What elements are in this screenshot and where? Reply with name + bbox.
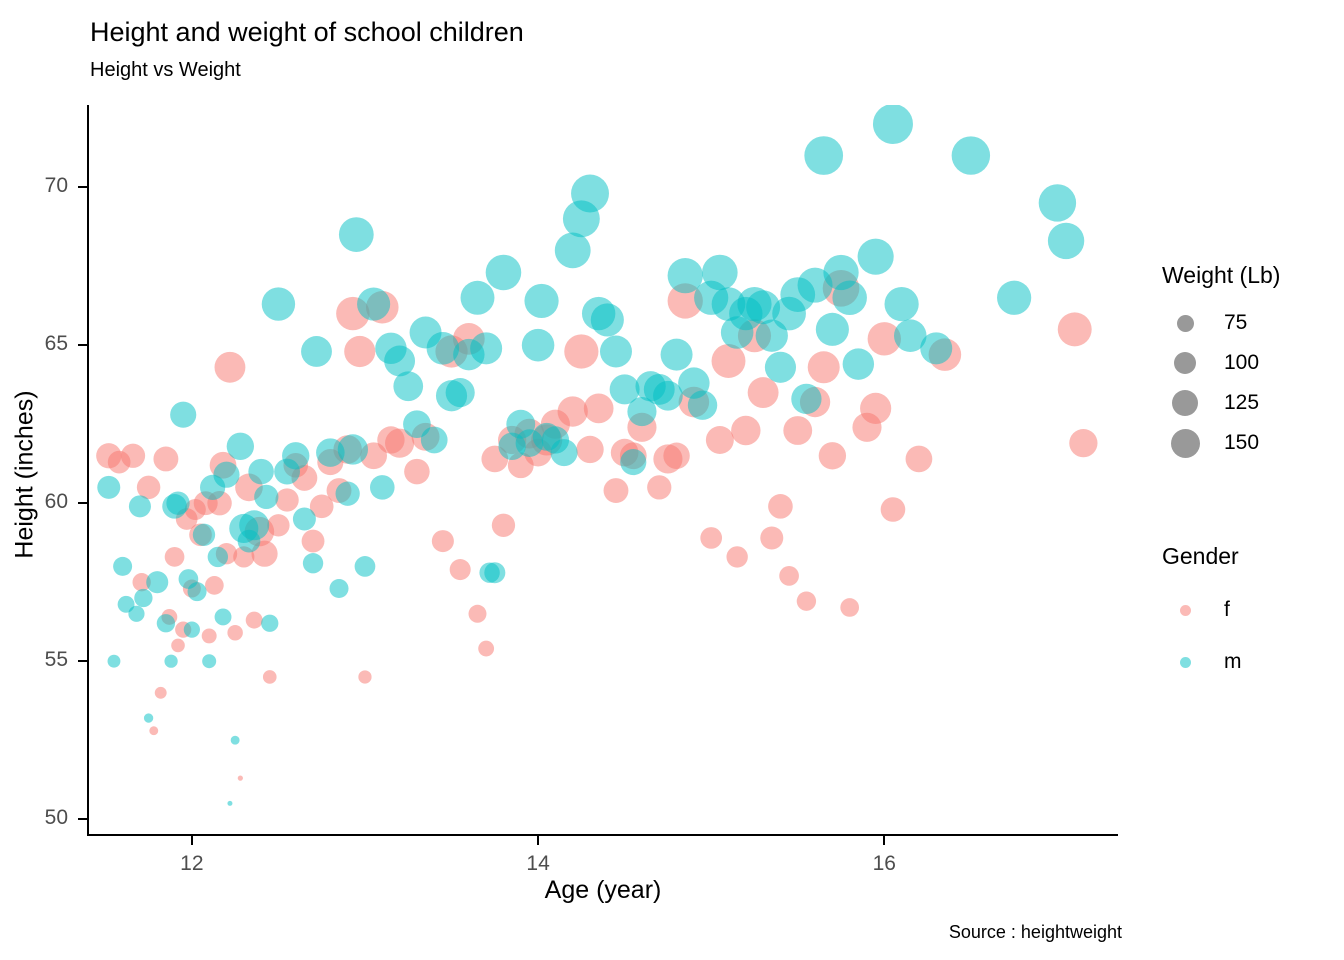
scatter-point [952,136,990,174]
chart-subtitle: Height vs Weight [90,58,241,82]
scatter-point [166,492,189,515]
y-tick-label: 60 [45,490,68,514]
gender-legend: Gender fm [1162,543,1242,688]
y-tick-label: 55 [45,648,68,672]
size-legend-items: 75100125150 [1162,303,1280,463]
scatter-point [246,612,263,629]
scatter-point [121,444,145,468]
scatter-point [193,524,215,546]
y-tick-label: 65 [45,332,68,356]
scatter-point [153,446,178,471]
scatter-point [239,510,269,540]
circle-icon [1162,390,1208,416]
scatter-point [336,482,360,506]
circle-icon [1162,605,1208,616]
scatter-point [791,384,821,414]
scatter-point [576,436,603,463]
scatter-point [421,427,448,454]
scatter-point [254,485,278,509]
scatter-point [165,547,185,567]
scatter-point [469,605,487,623]
scatter-point [263,670,277,684]
scatter-point [885,287,919,321]
x-tick-mark [883,836,885,845]
chart-caption: Source : heightweight [949,921,1122,943]
scatter-point [712,344,746,378]
scatter-point [706,426,734,454]
scatter-point [164,655,177,668]
scatter-point [129,495,151,517]
y-axis-title: Height (inches) [11,110,40,840]
x-tick-label: 14 [498,852,578,876]
scatter-point [551,439,578,466]
size-legend-row: 125 [1162,383,1280,423]
scatter-point [858,239,894,275]
scatter-point [238,776,243,781]
scatter-point [840,598,859,617]
scatter-point [760,526,783,549]
gender-legend-items: fm [1162,584,1242,688]
gender-legend-title: Gender [1162,543,1242,570]
chart-root: Height and weight of school children Hei… [0,0,1344,960]
size-legend-key [1177,315,1194,332]
scatter-point [267,514,289,536]
scatter-point [816,313,849,346]
gender-legend-label: m [1224,650,1242,674]
scatter-point [358,670,371,683]
scatter-point [726,546,747,567]
scatter-point [208,547,228,567]
scatter-point [262,287,295,320]
scatter-point [344,336,375,367]
x-tick-label: 16 [844,852,924,876]
plot-panel [88,105,1118,835]
scatter-point [522,329,555,362]
scatter-point [188,582,207,601]
size-legend-label: 125 [1224,391,1259,415]
page-title: Height and weight of school children [90,16,524,48]
scatter-point [213,462,239,488]
scatter-point [149,726,158,735]
scatter-point [765,352,796,383]
scatter-point [1058,312,1092,346]
size-legend: Weight (Lb) 75100125150 [1162,262,1280,463]
size-legend-key [1172,390,1198,416]
scatter-point [339,217,374,252]
gender-legend-row[interactable]: f [1162,584,1242,636]
scatter-point [215,608,232,625]
size-legend-row: 150 [1162,423,1280,463]
scatter-point [571,175,609,213]
scatter-point [393,371,423,401]
scatter-point [113,557,132,576]
scatter-point [843,348,874,379]
scatter-point [205,576,224,595]
scatter-point [779,566,799,586]
x-tick-label: 12 [152,852,232,876]
scatter-point [492,514,515,537]
scatter-point [227,433,254,460]
scatter-point [338,434,368,464]
scatter-point [302,530,325,553]
scatter-point [128,606,144,622]
scatter-point [450,559,471,580]
scatter-point [555,232,591,268]
scatter-point [248,459,274,485]
gender-legend-key [1180,657,1191,668]
scatter-point [303,553,323,573]
scatter-point [1039,184,1076,221]
circle-icon [1162,429,1208,458]
scatter-point [688,391,717,420]
size-legend-label: 150 [1224,431,1259,455]
scatter-point [231,736,240,745]
x-tick-mark [191,836,193,845]
x-axis-title: Age (year) [0,876,1206,905]
scatter-point [146,571,168,593]
scatter-point [330,579,349,598]
scatter-point [524,284,558,318]
size-legend-label: 75 [1224,311,1247,335]
scatter-point [108,655,121,668]
scatter-point [604,478,629,503]
scatter-point [661,339,693,371]
scatter-point [564,334,598,368]
gender-legend-row[interactable]: m [1162,636,1242,688]
scatter-point [804,136,843,175]
scatter-point [432,530,454,552]
scatter-point [647,475,671,499]
scatter-point [357,288,390,321]
scatter-point [134,589,152,607]
scatter-point [301,336,332,367]
scatter-point [702,255,738,291]
scatter-point [584,394,614,424]
scatter-point [202,628,217,643]
size-legend-title: Weight (Lb) [1162,262,1280,289]
circle-icon [1162,352,1208,374]
scatter-point [873,105,913,144]
scatter-point [783,416,812,445]
scatter-point [797,591,816,610]
scatter-point [1048,223,1084,259]
scatter-point [920,332,952,364]
size-legend-key [1174,352,1196,374]
y-tick-label: 70 [45,174,68,198]
scatter-point [997,281,1031,315]
scatter-point [171,639,185,653]
gender-legend-key [1180,605,1191,616]
scatter-point [227,625,242,640]
scatter-point [832,281,867,316]
scatter-point [808,351,840,383]
scatter-point [600,335,632,367]
scatter-point [155,687,167,699]
size-legend-label: 100 [1224,351,1259,375]
scatter-point [227,801,232,806]
scatter-point [819,442,846,469]
scatter-point [486,255,522,291]
y-tick-mark [78,502,87,504]
circle-icon [1162,657,1208,668]
size-legend-row: 100 [1162,343,1280,383]
scatter-point [461,281,495,315]
scatter-point [293,507,316,530]
scatter-point [906,446,933,473]
x-tick-mark [537,836,539,845]
scatter-point [558,396,588,426]
scatter-point [591,303,624,336]
scatter-points-layer [88,105,1118,835]
scatter-point [768,494,793,519]
x-axis-line [87,834,1118,836]
gender-legend-label: f [1224,598,1230,622]
scatter-point [1069,429,1097,457]
scatter-point [700,527,722,549]
scatter-point [355,556,376,577]
size-legend-key [1171,429,1200,458]
scatter-point [748,377,779,408]
scatter-point [170,402,196,428]
scatter-point [881,497,906,522]
scatter-point [620,449,646,475]
y-tick-mark [78,660,87,662]
scatter-point [202,654,216,668]
size-legend-row: 75 [1162,303,1280,343]
scatter-point [860,393,891,424]
y-tick-mark [78,344,87,346]
scatter-point [157,614,175,632]
scatter-point [663,443,689,469]
scatter-point [470,332,502,364]
scatter-point [184,621,200,637]
scatter-point [370,475,395,500]
circle-icon [1162,315,1208,332]
scatter-point [144,713,153,722]
scatter-point [404,459,430,485]
scatter-point [478,641,494,657]
y-tick-mark [78,186,87,188]
scatter-point [446,378,475,407]
y-tick-label: 50 [45,806,68,830]
scatter-point [261,615,278,632]
scatter-point [275,488,298,511]
scatter-point [215,352,246,383]
y-tick-mark [78,818,87,820]
scatter-point [97,476,120,499]
y-axis-line [87,105,89,836]
scatter-point [484,562,505,583]
scatter-point [282,442,309,469]
scatter-point [731,416,760,445]
